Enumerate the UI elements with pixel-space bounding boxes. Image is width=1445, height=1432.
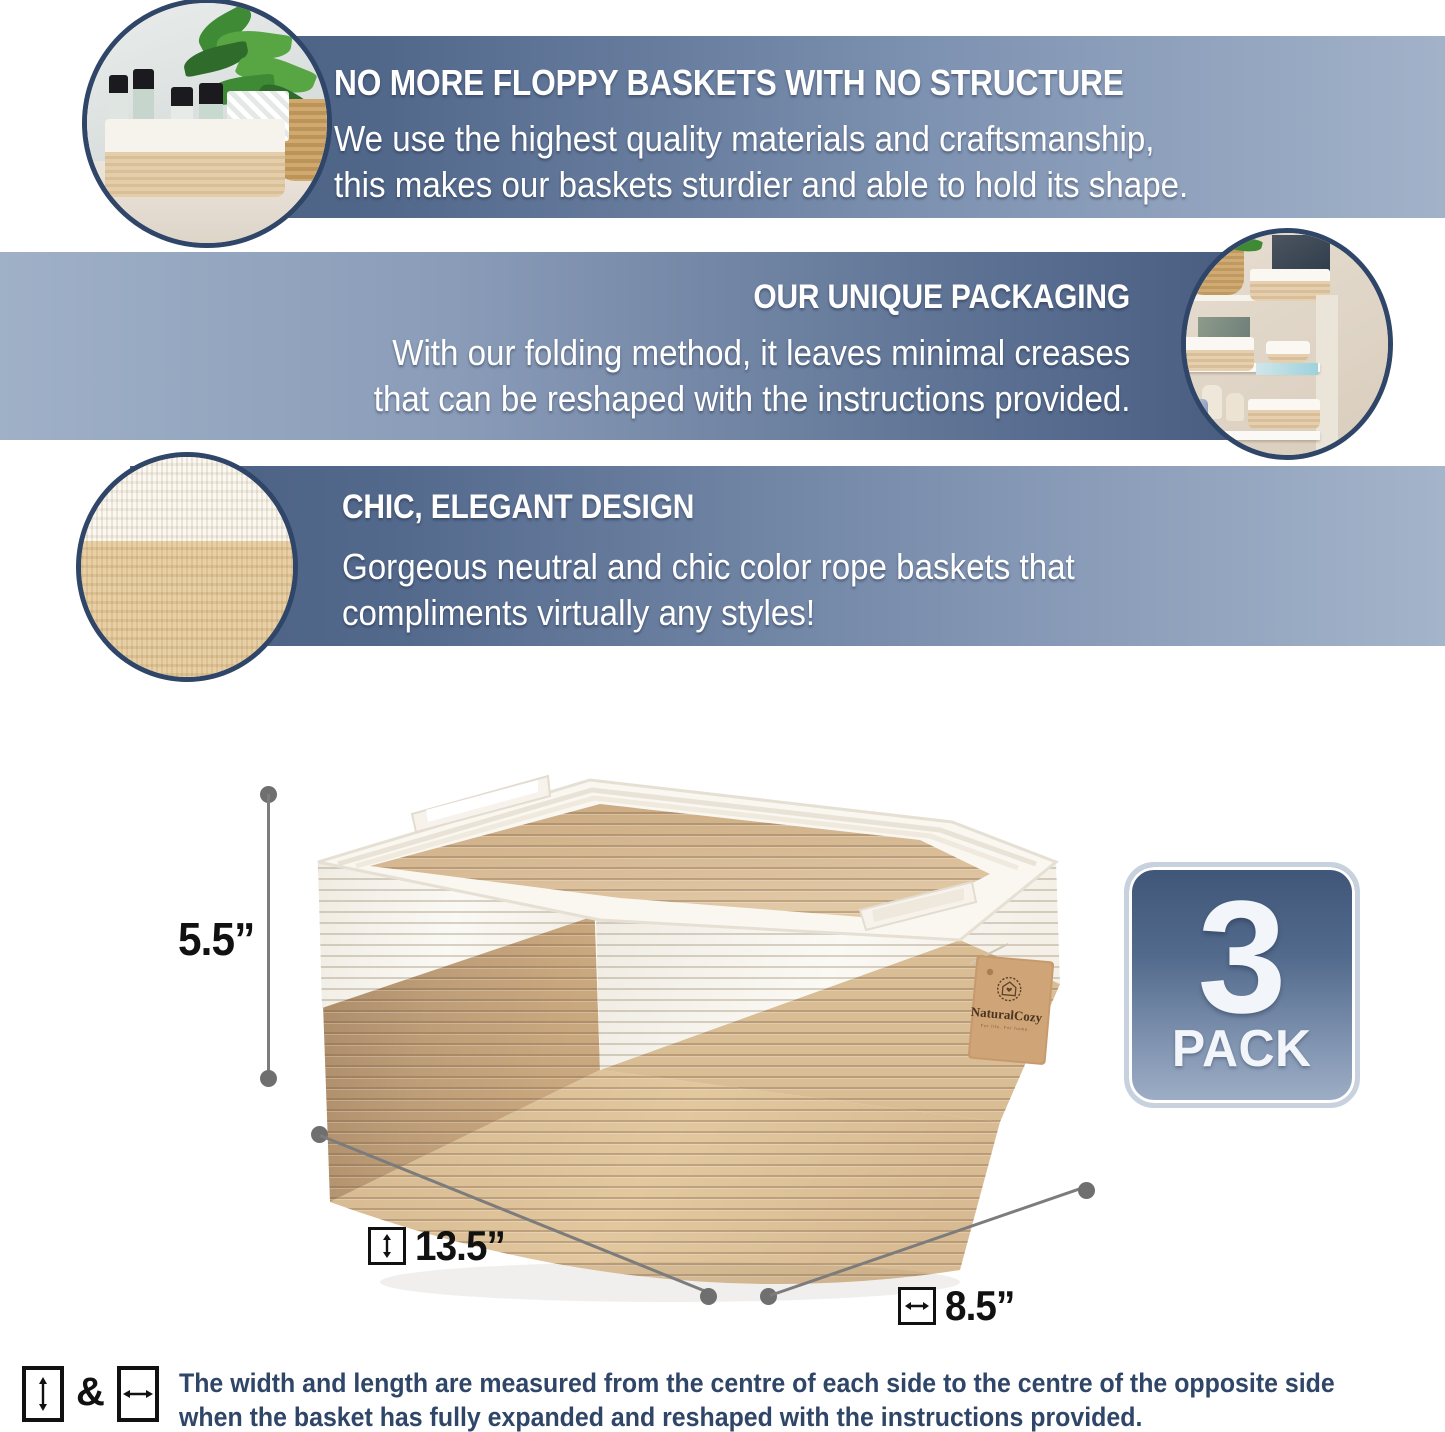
shelf-board <box>1181 431 1320 440</box>
banner-body-line-2: this makes our baskets sturdier and able… <box>334 164 1188 206</box>
rope-bowl <box>1266 341 1310 363</box>
white-rope-band <box>81 457 293 541</box>
books <box>1256 363 1318 375</box>
feature-banner-unique-packaging: OUR UNIQUE PACKAGING With our folding me… <box>0 252 1290 440</box>
footnote-line-2: when the basket has fully expanded and r… <box>179 1400 1335 1432</box>
feature-banner-no-structure: NO MORE FLOPPY BASKETS WITH NO STRUCTURE… <box>140 36 1445 218</box>
banner-body-line-2: compliments virtually any styles! <box>342 592 815 634</box>
rope-texture-closeup <box>81 457 293 677</box>
pack-label: PACK <box>1172 1019 1312 1079</box>
banner-heading: NO MORE FLOPPY BASKETS WITH NO STRUCTURE <box>334 62 1124 104</box>
dim-dot-length-end <box>700 1288 717 1305</box>
dimension-label-width: 8.5” <box>898 1282 1020 1330</box>
measurement-footnote: & The width and length are measured from… <box>22 1366 1432 1432</box>
ceramic-jug <box>1190 399 1208 421</box>
vertical-double-arrow-icon <box>22 1366 64 1422</box>
banner-photo-bathroom <box>82 0 332 248</box>
brand-hang-tag: NaturalCozy For life. For home. <box>960 938 1055 1068</box>
height-value: 5.5” <box>178 912 254 966</box>
home-logo-icon <box>995 975 1023 1003</box>
banner-body-line-1: With our folding method, it leaves minim… <box>392 332 1130 374</box>
dimension-label-height: 5.5” <box>178 912 261 966</box>
dim-line-height <box>267 794 270 1078</box>
wicker-planter <box>1188 247 1244 295</box>
horizontal-double-arrow-icon <box>117 1366 159 1422</box>
footnote-line-1: The width and length are measured from t… <box>179 1366 1335 1400</box>
width-value: 8.5” <box>945 1282 1014 1330</box>
banner-photo-rope-texture <box>76 452 298 682</box>
feature-banner-chic-design: CHIC, ELEGANT DESIGN Gorgeous neutral an… <box>130 466 1445 646</box>
bathroom-scene <box>87 3 327 243</box>
banner-photo-bookshelf <box>1181 228 1393 460</box>
vase <box>1226 393 1244 421</box>
bookshelf-scene <box>1186 233 1388 455</box>
banner-body-line-2: that can be reshaped with the instructio… <box>373 378 1130 420</box>
pack-count-number: 3 <box>1198 891 1287 1022</box>
tan-rope-band <box>81 541 293 677</box>
horizontal-double-arrow-icon <box>898 1287 936 1325</box>
banner-body-line-1: Gorgeous neutral and chic color rope bas… <box>342 546 1075 588</box>
dim-dot-width-end <box>1078 1182 1095 1199</box>
pack-count-badge: 3 PACK <box>1124 862 1360 1108</box>
banner-body-line-1: We use the highest quality materials and… <box>334 118 1154 160</box>
banner-heading: OUR UNIQUE PACKAGING <box>753 278 1130 317</box>
rope-basket <box>1181 337 1254 371</box>
vertical-double-arrow-icon <box>368 1227 406 1265</box>
ampersand: & <box>76 1366 105 1418</box>
infographic-page: NO MORE FLOPPY BASKETS WITH NO STRUCTURE… <box>0 0 1445 1432</box>
rope-basket <box>105 119 285 197</box>
banner-heading: CHIC, ELEGANT DESIGN <box>342 488 694 527</box>
length-value: 13.5” <box>415 1222 505 1270</box>
footnote-text: The width and length are measured from t… <box>179 1366 1335 1432</box>
rope-basket <box>1248 399 1320 429</box>
dim-dot-height-bottom <box>260 1070 277 1087</box>
dim-dot-width-start <box>760 1288 777 1305</box>
dimension-label-length: 13.5” <box>368 1222 513 1270</box>
